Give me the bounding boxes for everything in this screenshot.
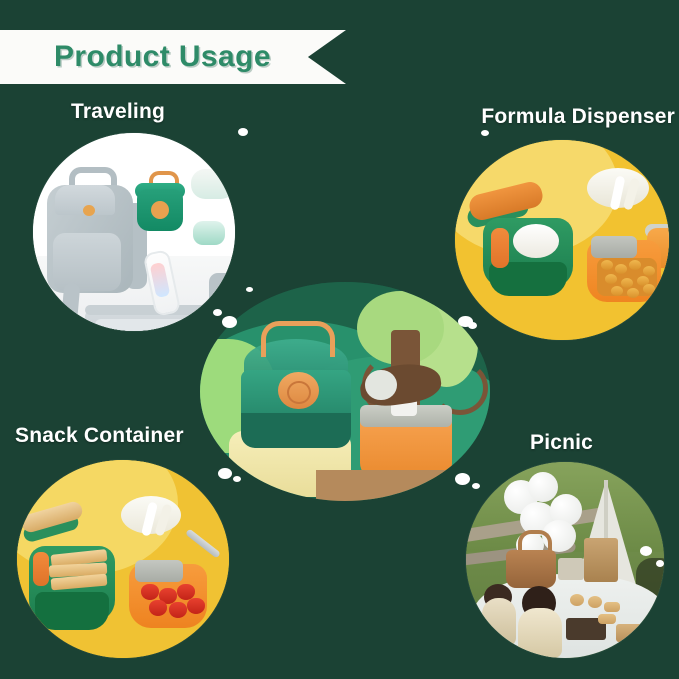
hero-product-illustration (200, 282, 490, 501)
orange-scoop (491, 228, 509, 268)
child-figure (518, 608, 562, 658)
thought-bubble-dot (656, 560, 664, 567)
thought-bubble-dot (481, 130, 489, 136)
picnic-box (558, 558, 584, 580)
page-title: Product Usage (54, 40, 271, 74)
accessory-cup (193, 221, 225, 245)
wicker-basket (506, 550, 556, 588)
thought-bubble-dot (458, 316, 473, 327)
picnic-scene (466, 462, 664, 658)
thought-bubble-dot (218, 468, 232, 479)
backpack-logo (83, 205, 95, 216)
infographic-canvas: Product Usage Traveling Formula Dispense… (0, 0, 679, 679)
thought-bubble-dot (222, 316, 237, 328)
section-heading-formula-dispenser: Formula Dispenser (481, 105, 675, 129)
spiral-latch-icon (151, 201, 169, 219)
section-heading-traveling: Traveling (71, 100, 165, 124)
orange-container-lid (591, 236, 637, 258)
thought-bubble-dot (455, 473, 470, 485)
child-figure (482, 598, 516, 646)
thought-bubble-dot (640, 546, 652, 556)
section-heading-picnic: Picnic (530, 431, 593, 455)
balloon (528, 472, 558, 502)
title-banner: Product Usage (0, 30, 346, 84)
orange-scoop (33, 552, 49, 586)
green-container-base (35, 592, 109, 630)
accessory-cap-top (191, 169, 235, 199)
thought-bubble-dot (233, 476, 241, 482)
orange-container-lid (135, 560, 183, 582)
container-base (241, 413, 351, 448)
cutting-board (616, 624, 650, 642)
thought-bubble-dot (213, 309, 222, 316)
paper-bag (584, 538, 618, 582)
snack-container-scene (17, 460, 229, 658)
section-heading-snack-container: Snack Container (15, 424, 184, 448)
photo-circle-snack-container (17, 460, 229, 658)
backpack-front-pocket (53, 233, 121, 291)
photo-circle-picnic (466, 462, 664, 658)
thought-bubble-dot (472, 483, 480, 489)
formula-powder (513, 224, 559, 258)
spiral-latch-icon (365, 370, 397, 401)
thought-bubble-dot (238, 128, 248, 136)
container-handle-icon (261, 321, 335, 357)
thought-bubble-dot (246, 287, 253, 292)
hero-scene (200, 282, 490, 501)
